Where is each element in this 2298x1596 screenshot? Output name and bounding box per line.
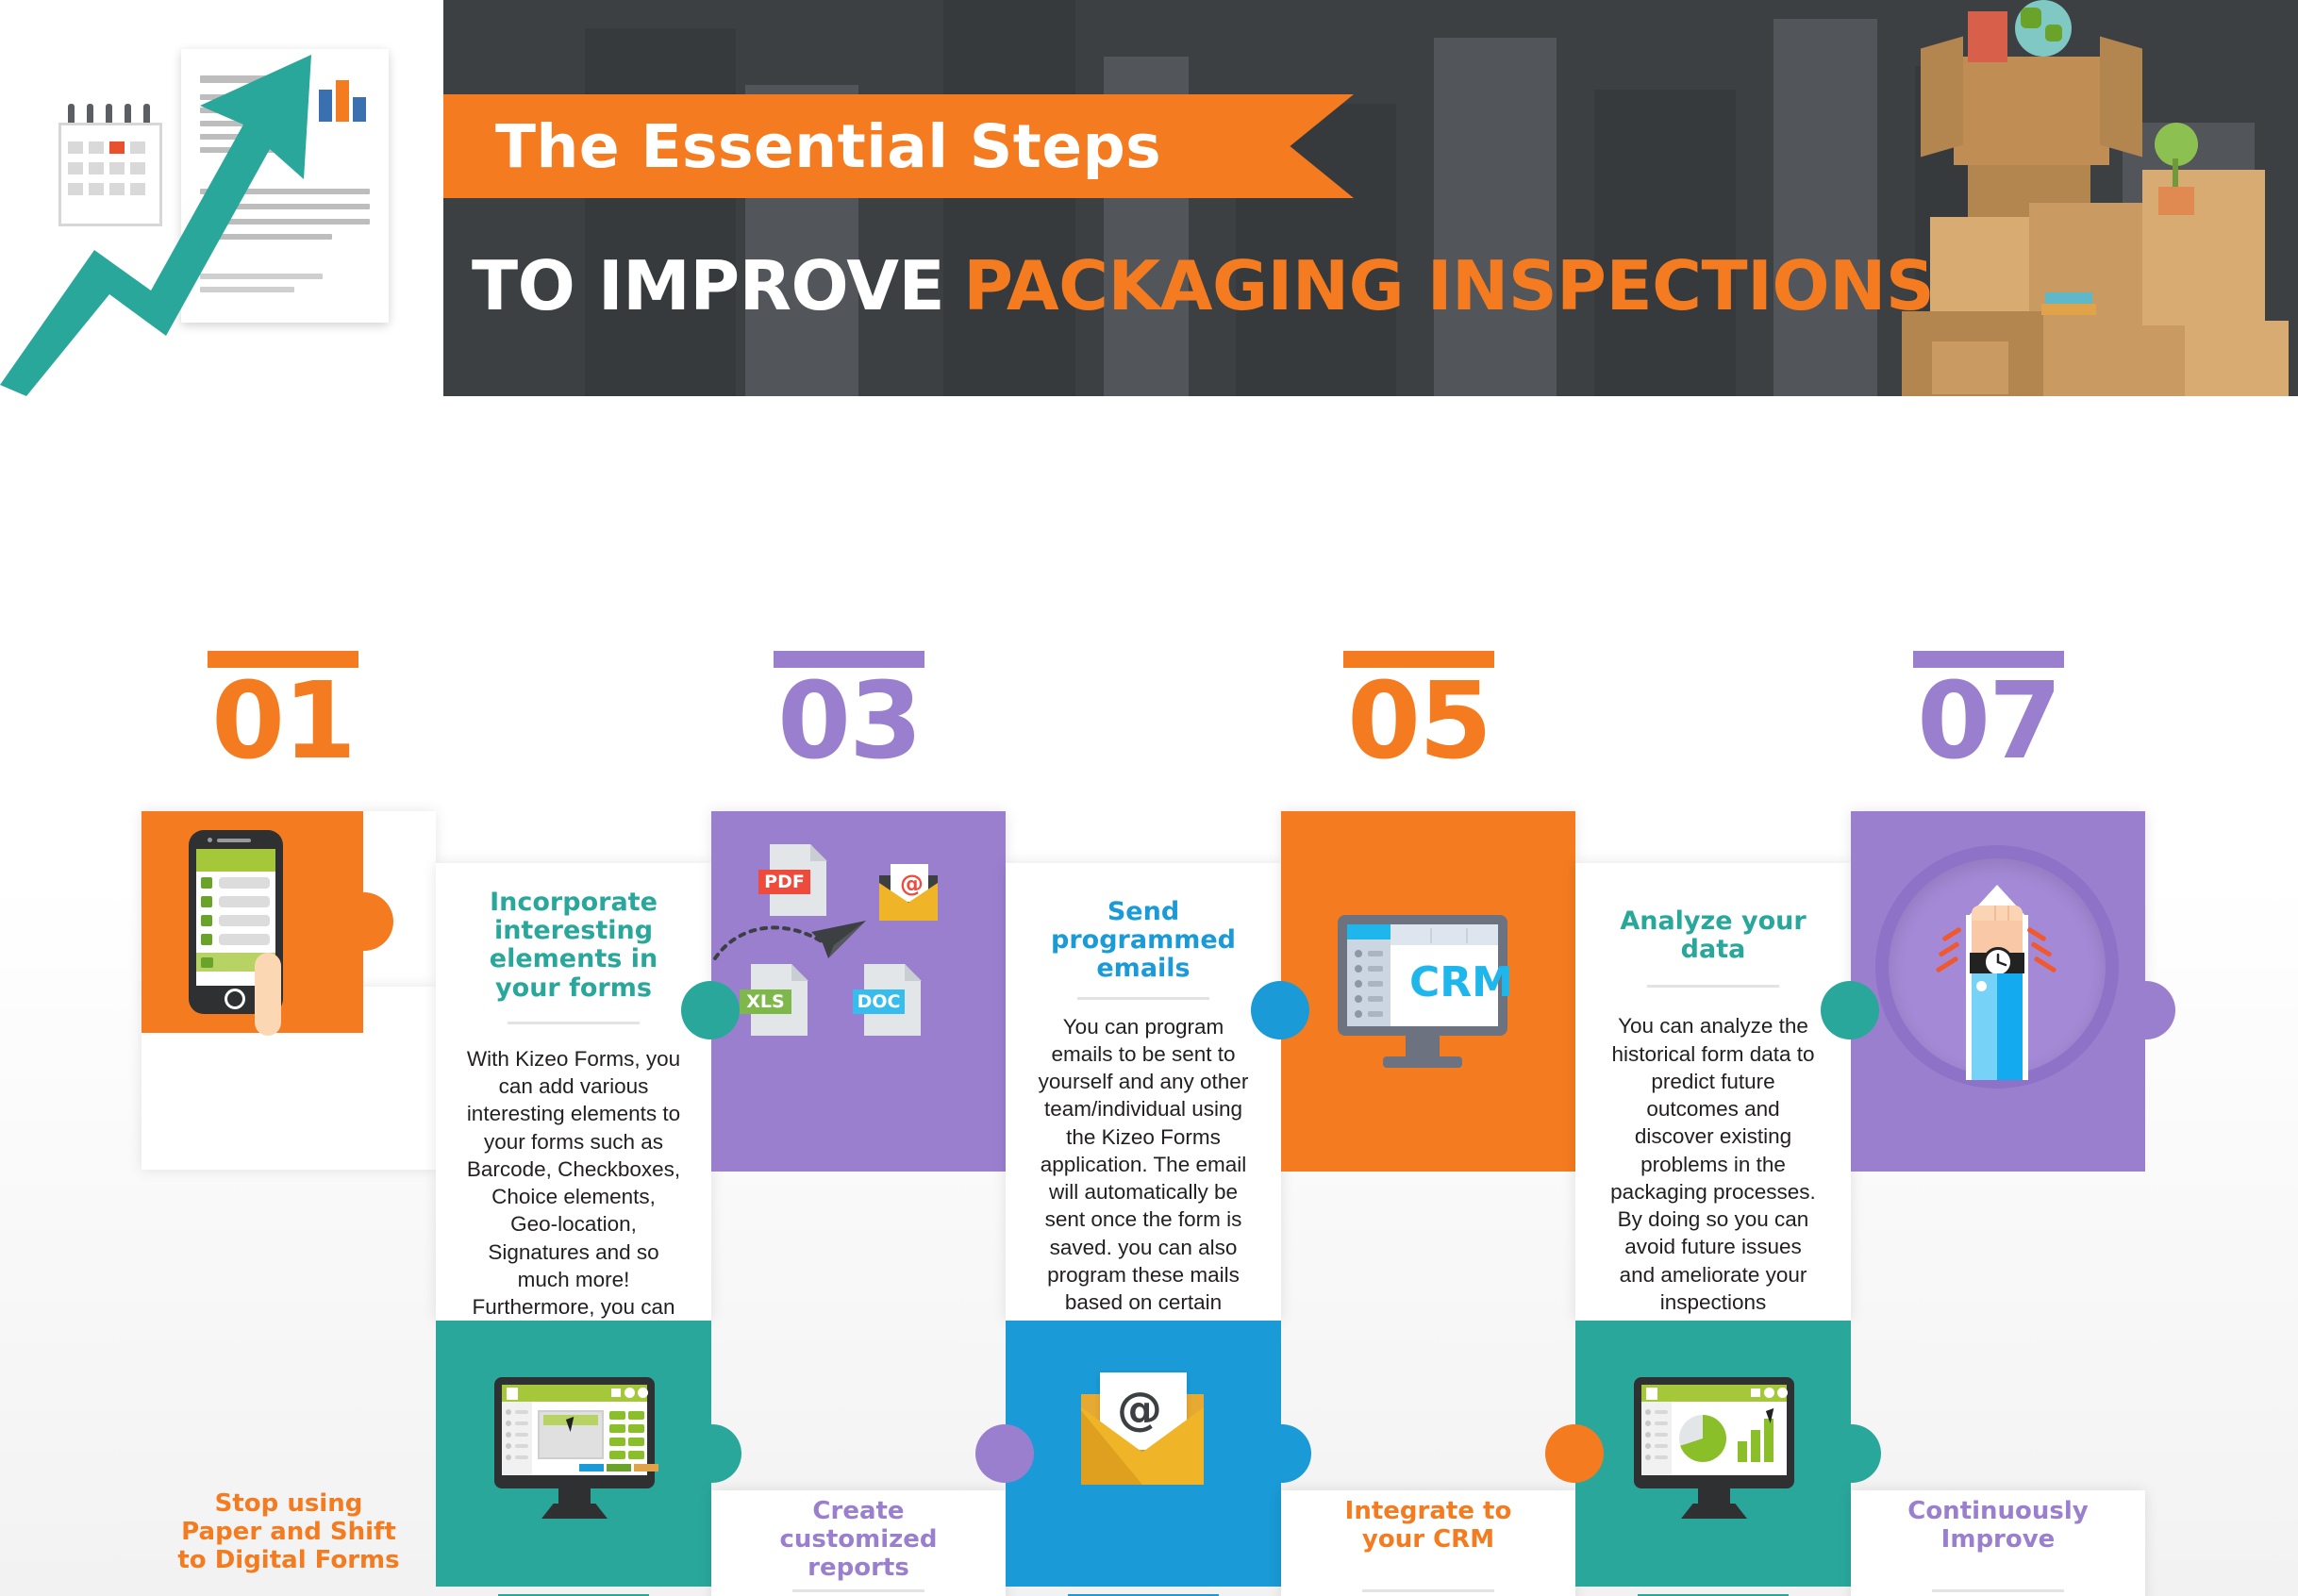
step-title-04: Send programmed emails — [1023, 898, 1264, 984]
step-caption-03: Create customized reports — [745, 1498, 972, 1583]
header-banner: The Essential Steps TO IMPROVE PACKAGING… — [0, 0, 2298, 396]
bar-chart-icon — [1738, 1441, 1747, 1462]
step-caption-05: Integrate to your CRM — [1315, 1498, 1541, 1554]
step-tile-02 — [436, 1321, 711, 1587]
subtitle-orange-text: PACKAGING INSPECTIONS — [963, 246, 1934, 325]
cardboard-boxes-illustration — [1902, 0, 2298, 396]
paper-plane-icon — [809, 917, 874, 964]
step-number-07: 07 — [1885, 651, 2092, 771]
puzzle-socket-05 — [1251, 981, 1309, 1039]
xls-label: XLS — [740, 989, 791, 1014]
step-number-03: 03 — [745, 651, 953, 771]
skyline-shape — [1773, 19, 1877, 396]
growth-arrow-icon — [0, 38, 443, 396]
step-tile-04: @ — [1006, 1321, 1281, 1587]
pdf-label: PDF — [758, 870, 810, 894]
puzzle-socket-06 — [1545, 1424, 1604, 1483]
step-number-01: 01 — [179, 651, 387, 771]
step-number-text-07: 07 — [1885, 673, 2092, 771]
skyline-shape — [585, 28, 736, 396]
puzzle-knob-04 — [1253, 1424, 1311, 1483]
step-body-06: You can analyze the historical form data… — [1592, 1012, 1834, 1316]
step-rule-03 — [792, 1589, 924, 1592]
step-number-05: 05 — [1315, 651, 1523, 771]
doc-label: DOC — [853, 989, 905, 1014]
ribbon-title-text: The Essential Steps — [495, 112, 1161, 181]
ribbon-title-bar: The Essential Steps — [443, 94, 1354, 198]
step-rule-02 — [508, 1022, 640, 1024]
step-rule-07 — [1932, 1589, 2064, 1592]
step-number-text-03: 03 — [745, 673, 953, 771]
puzzle-knob-02 — [683, 1424, 741, 1483]
step-rule-04 — [1077, 997, 1209, 1000]
puzzle-socket-07 — [1821, 981, 1879, 1039]
skyline-shape — [1434, 38, 1557, 396]
step-tile-03: PDF @ XLS — [711, 811, 1006, 1172]
crm-label: CRM — [1409, 958, 1513, 1006]
step-number-text-05: 05 — [1315, 673, 1523, 771]
step-tile-05: CRM — [1281, 811, 1575, 1172]
pie-chart-icon — [1679, 1415, 1726, 1462]
subtitle-row: TO IMPROVE PACKAGING INSPECTIONS — [472, 241, 1943, 330]
step-tile-06 — [1575, 1321, 1851, 1587]
step-rule-05 — [1362, 1589, 1494, 1592]
puzzle-knob-07 — [2117, 981, 2175, 1039]
step-title-02: Incorporate interesting elements in your… — [453, 889, 694, 1003]
step-tile-01 — [142, 811, 363, 1033]
step-number-text-01: 01 — [179, 673, 387, 771]
step-body-04: You can program emails to be sent to you… — [1023, 1013, 1264, 1372]
step-head-06: Analyze your data You can analyze the hi… — [1575, 887, 1851, 1316]
step-tile-07 — [1851, 811, 2145, 1172]
puzzle-socket-03 — [681, 981, 740, 1039]
steps-area: 01 — [0, 396, 2298, 1596]
subtitle-white-text: TO IMPROVE — [472, 246, 944, 325]
step-rule-06 — [1647, 985, 1779, 988]
puzzle-knob-01 — [335, 892, 393, 951]
puzzle-socket-04 — [975, 1424, 1034, 1483]
puzzle-knob-06 — [1823, 1424, 1881, 1483]
step-caption-01: Stop using Paper and Shift to Digital Fo… — [175, 1490, 402, 1575]
infographic-page: The Essential Steps TO IMPROVE PACKAGING… — [0, 0, 2298, 1596]
step-head-02: Incorporate interesting elements in your… — [436, 868, 711, 1376]
step-head-04: Send programmed emails You can program e… — [1006, 877, 1281, 1372]
step-caption-07: Continuously Improve — [1885, 1498, 2111, 1554]
step-title-06: Analyze your data — [1592, 907, 1834, 964]
skyline-shape — [943, 0, 1075, 396]
